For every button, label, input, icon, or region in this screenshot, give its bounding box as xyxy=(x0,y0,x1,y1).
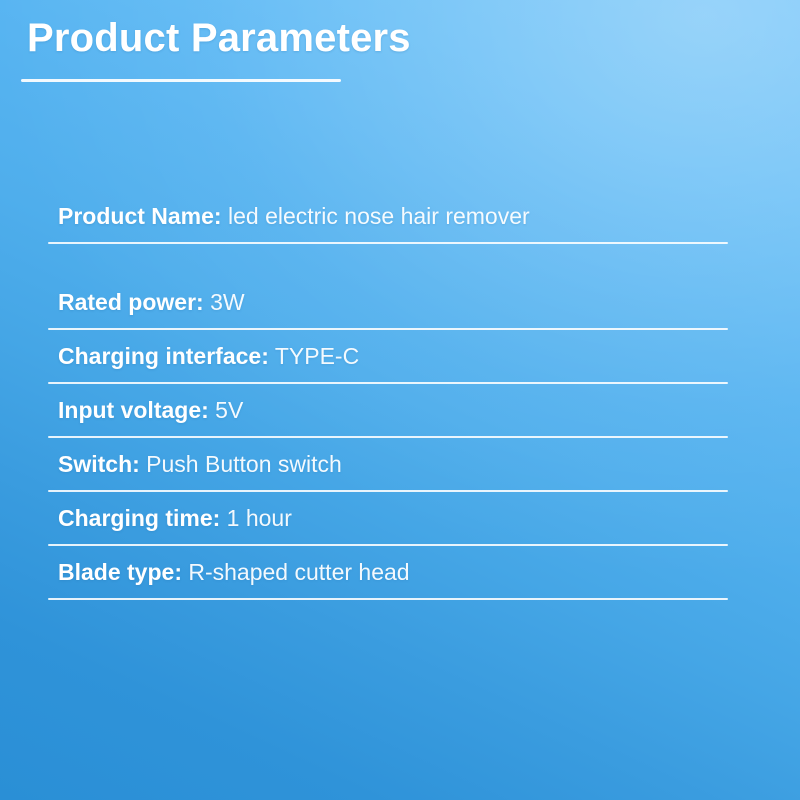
parameter-row-product-name: Product Name: led electric nose hair rem… xyxy=(48,196,728,244)
parameter-divider xyxy=(48,242,728,244)
parameter-text: Rated power: 3W xyxy=(48,282,728,322)
parameter-label: Charging time: xyxy=(58,505,220,531)
parameter-value: 5V xyxy=(215,397,243,423)
parameter-row-charging-time: Charging time: 1 hour xyxy=(48,498,728,546)
parameter-label: Product Name: xyxy=(58,203,222,229)
parameter-divider xyxy=(48,544,728,546)
parameter-label: Charging interface: xyxy=(58,343,269,369)
parameter-divider xyxy=(48,328,728,330)
parameter-value: led electric nose hair remover xyxy=(228,203,530,229)
parameter-value: R-shaped cutter head xyxy=(188,559,409,585)
parameter-label: Rated power: xyxy=(58,289,204,315)
parameter-value: 1 hour xyxy=(227,505,292,531)
parameter-value: Push Button switch xyxy=(146,451,342,477)
parameter-divider xyxy=(48,382,728,384)
page-title: Product Parameters xyxy=(27,16,767,61)
product-parameters-poster: Product Parameters Product Name: led ele… xyxy=(0,0,800,800)
poster-content: Product Parameters Product Name: led ele… xyxy=(0,0,800,800)
parameter-list: Product Name: led electric nose hair rem… xyxy=(48,196,728,606)
parameter-text: Input voltage: 5V xyxy=(48,390,728,430)
parameter-row-input-voltage: Input voltage: 5V xyxy=(48,390,728,438)
parameter-value: TYPE-C xyxy=(275,343,359,369)
parameter-label: Switch: xyxy=(58,451,140,477)
parameter-text: Switch: Push Button switch xyxy=(48,444,728,484)
parameter-divider xyxy=(48,436,728,438)
parameter-value: 3W xyxy=(210,289,245,315)
parameter-text: Blade type: R-shaped cutter head xyxy=(48,552,728,592)
parameter-row-switch: Switch: Push Button switch xyxy=(48,444,728,492)
parameter-label: Blade type: xyxy=(58,559,182,585)
parameter-row-rated-power: Rated power: 3W xyxy=(48,282,728,330)
title-block: Product Parameters xyxy=(27,16,767,82)
parameter-divider xyxy=(48,598,728,600)
parameter-row-charging-interface: Charging interface: TYPE-C xyxy=(48,336,728,384)
title-underline xyxy=(21,79,341,82)
parameter-text: Charging interface: TYPE-C xyxy=(48,336,728,376)
parameter-text: Charging time: 1 hour xyxy=(48,498,728,538)
parameter-text: Product Name: led electric nose hair rem… xyxy=(48,196,728,236)
parameter-divider xyxy=(48,490,728,492)
parameter-label: Input voltage: xyxy=(58,397,209,423)
parameter-row-blade-type: Blade type: R-shaped cutter head xyxy=(48,552,728,600)
